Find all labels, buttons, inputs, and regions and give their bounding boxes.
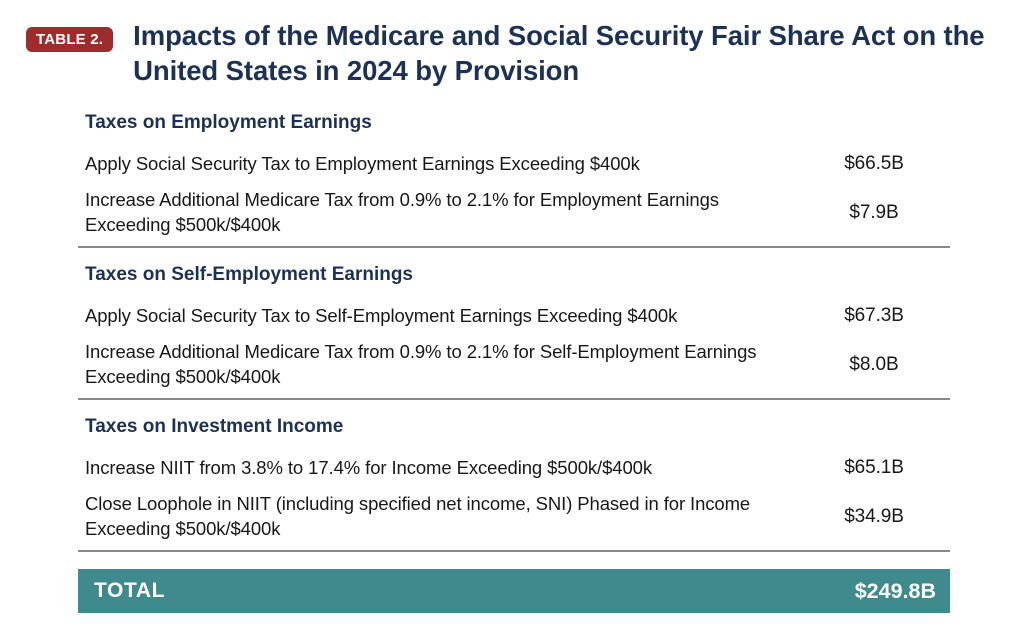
section-investment-income: Taxes on Investment Income Increase NIIT…	[78, 400, 950, 552]
title-container: Impacts of the Medicare and Social Secur…	[113, 18, 996, 88]
page-title: Impacts of the Medicare and Social Secur…	[127, 18, 996, 88]
provision-value: $67.3B	[798, 305, 950, 327]
provision-label: Increase Additional Medicare Tax from 0.…	[78, 188, 798, 237]
total-value: $249.8B	[855, 579, 936, 604]
table-row: Apply Social Security Tax to Self-Employ…	[78, 296, 950, 336]
provision-label: Apply Social Security Tax to Self-Employ…	[78, 304, 798, 329]
table-page: TABLE 2. Impacts of the Medicare and Soc…	[0, 0, 1024, 632]
section-title: Taxes on Investment Income	[78, 400, 950, 448]
provision-value: $66.5B	[798, 153, 950, 175]
section-divider	[78, 550, 950, 552]
table-row: Increase Additional Medicare Tax from 0.…	[78, 336, 950, 393]
total-label: TOTAL	[94, 579, 855, 603]
section-title: Taxes on Employment Earnings	[78, 102, 950, 144]
provision-value: $65.1B	[798, 457, 950, 479]
section-title: Taxes on Self-Employment Earnings	[78, 248, 950, 296]
table-row: Close Loophole in NIIT (including specif…	[78, 488, 950, 545]
table-number-badge: TABLE 2.	[26, 27, 113, 52]
table-row: Increase Additional Medicare Tax from 0.…	[78, 184, 950, 241]
provision-value: $7.9B	[798, 202, 950, 224]
provision-value: $34.9B	[798, 506, 950, 528]
provisions-table: Taxes on Employment Earnings Apply Socia…	[78, 102, 950, 613]
provision-label: Increase NIIT from 3.8% to 17.4% for Inc…	[78, 456, 798, 481]
provision-label: Apply Social Security Tax to Employment …	[78, 152, 798, 177]
provision-label: Increase Additional Medicare Tax from 0.…	[78, 340, 798, 389]
total-row: TOTAL $249.8B	[78, 569, 950, 613]
section-employment-earnings: Taxes on Employment Earnings Apply Socia…	[78, 102, 950, 248]
table-header: TABLE 2. Impacts of the Medicare and Soc…	[0, 0, 1024, 88]
provision-label: Close Loophole in NIIT (including specif…	[78, 492, 798, 541]
table-row: Apply Social Security Tax to Employment …	[78, 144, 950, 184]
section-self-employment-earnings: Taxes on Self-Employment Earnings Apply …	[78, 248, 950, 400]
provision-value: $8.0B	[798, 354, 950, 376]
table-row: Increase NIIT from 3.8% to 17.4% for Inc…	[78, 448, 950, 488]
